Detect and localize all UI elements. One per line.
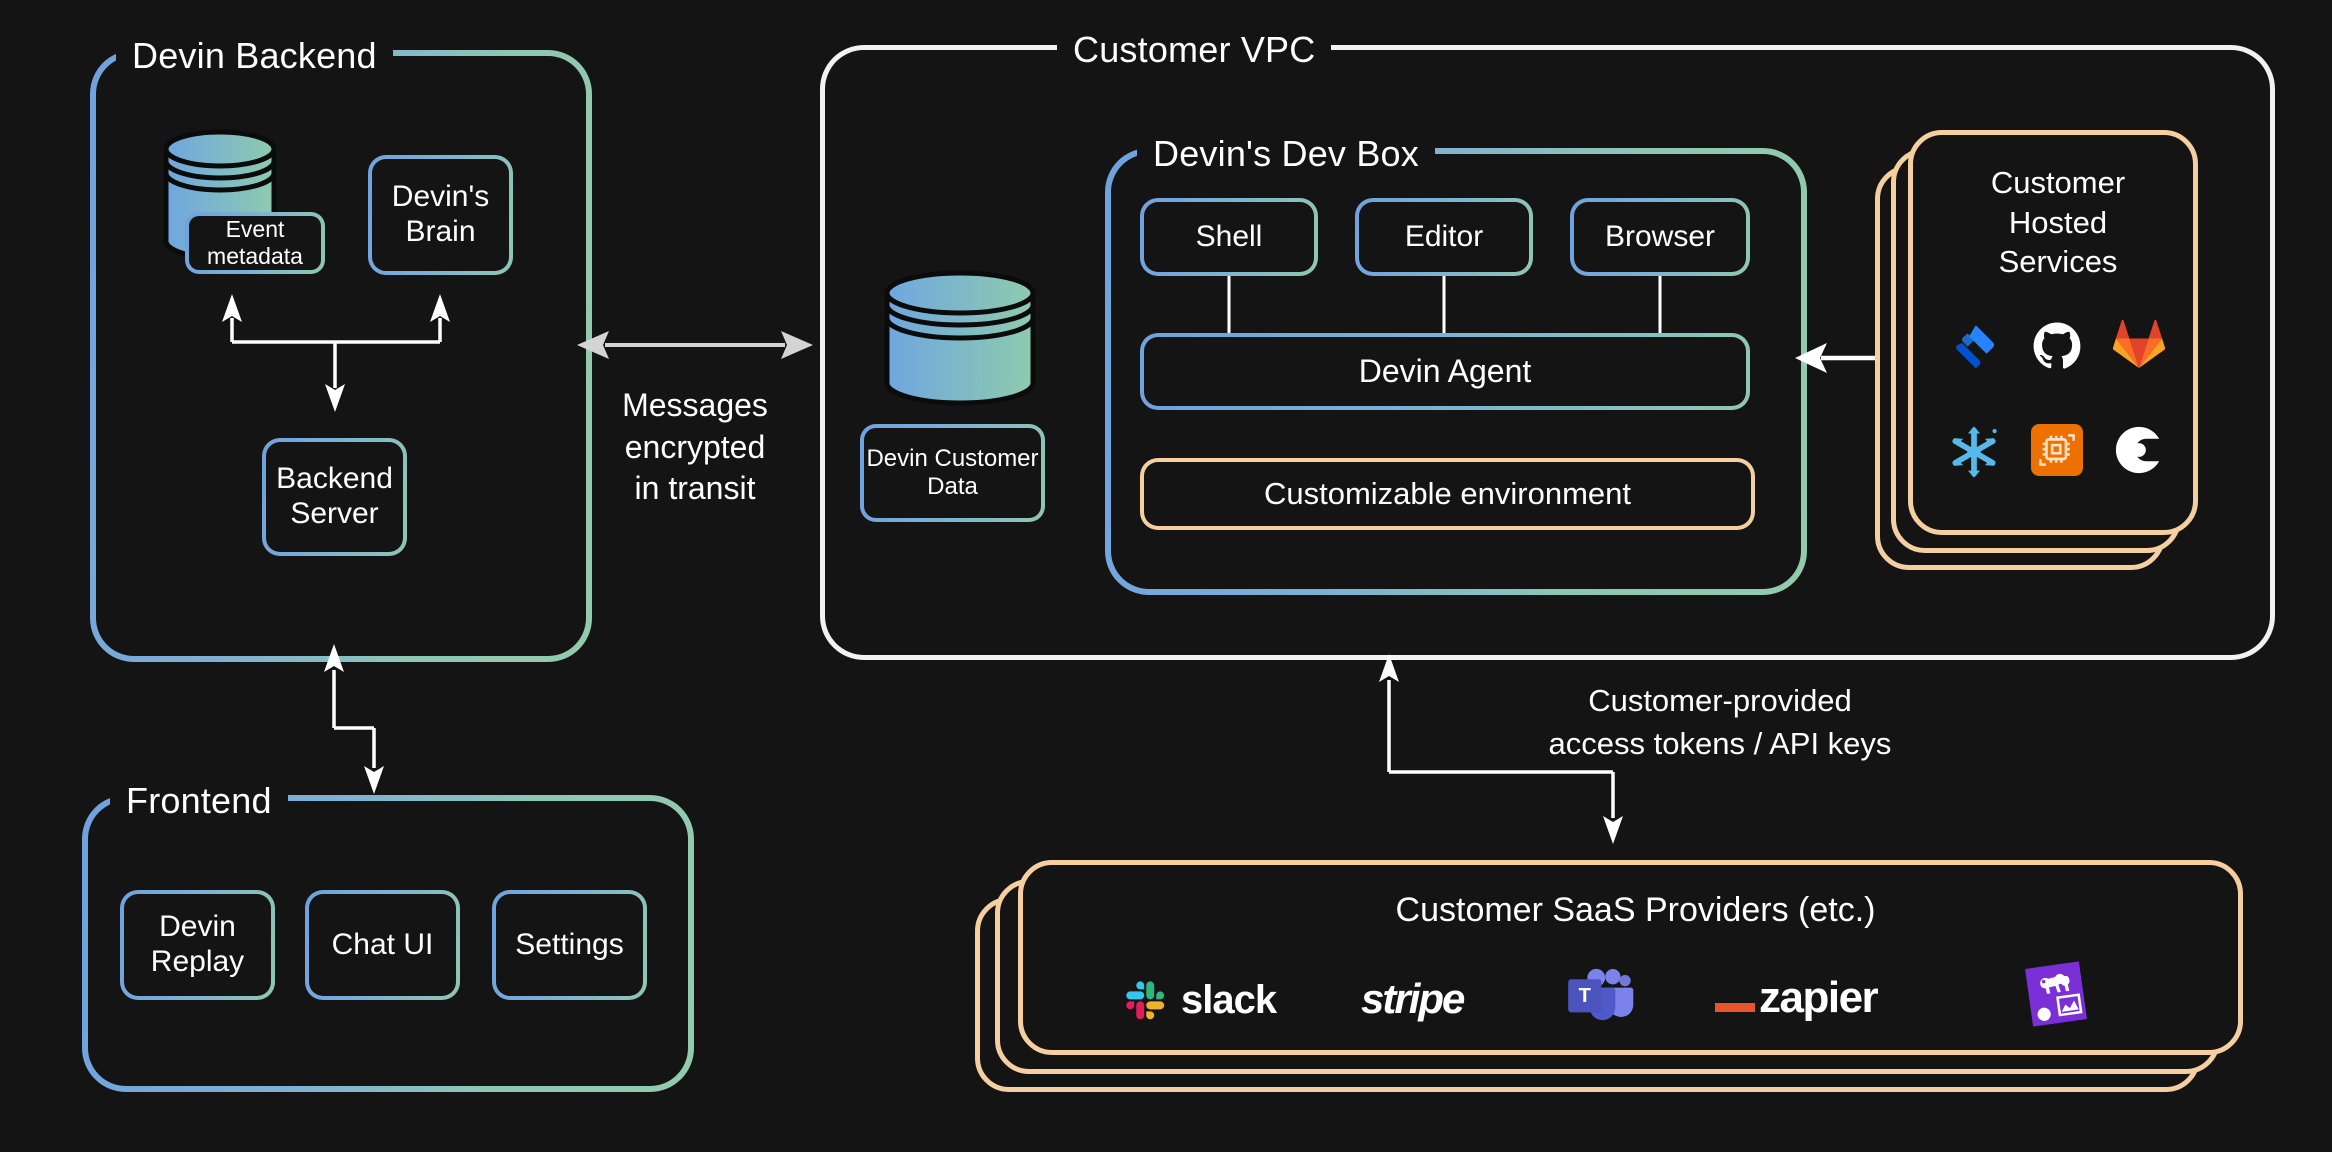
svg-text:stripe: stripe	[1361, 975, 1465, 1022]
devin-customer-data-label: Devin Customer Data	[864, 445, 1041, 501]
customizable-environment-box[interactable]: Customizable environment	[1140, 458, 1755, 530]
dev-tool-label: Shell	[1196, 220, 1263, 255]
backend-server-label: Backend Server	[266, 462, 403, 532]
github-icon[interactable]	[2031, 320, 2083, 372]
diagram-canvas: Devin Backend Event metadata Devin's Bra…	[0, 0, 2332, 1152]
frontend-item-label: Chat UI	[332, 928, 434, 963]
devins-brain-label: Devin's Brain	[372, 180, 509, 250]
backend-server-box[interactable]: Backend Server	[262, 438, 407, 556]
hosted-services-icon-grid	[1943, 320, 2175, 510]
stripe-logo[interactable]: stripe	[1361, 975, 1511, 1023]
jira-icon[interactable]	[1949, 320, 2001, 372]
devin-agent-box[interactable]: Devin Agent	[1140, 333, 1750, 410]
frontend-item-label: Settings	[515, 928, 623, 963]
hosted-services-card-front[interactable]: Customer Hosted Services	[1908, 130, 2198, 535]
access-tokens-note: Customer-provided access tokens / API ke…	[1400, 680, 2040, 766]
zapier-logo[interactable]: zapier	[1715, 971, 1925, 1023]
event-metadata-label: Event metadata	[189, 216, 321, 269]
dev-tool-editor[interactable]: Editor	[1355, 198, 1533, 276]
customer-saas-providers-stack: Customer SaaS Providers (etc.)	[975, 845, 2245, 1105]
devin-customer-data-box[interactable]: Devin Customer Data	[860, 424, 1045, 522]
microsoft-teams-logo[interactable]: T	[1568, 965, 1634, 1027]
svg-text:slack: slack	[1181, 978, 1278, 1022]
datadog-logo[interactable]	[2023, 961, 2089, 1027]
svg-text:T: T	[1579, 985, 1592, 1007]
encrypted-transit-label: Messages encrypted in transit	[575, 385, 815, 510]
saas-title: Customer SaaS Providers (etc.)	[1023, 891, 2248, 930]
circleci-icon[interactable]	[2113, 424, 2165, 476]
dev-tool-label: Editor	[1405, 220, 1483, 255]
customer-hosted-services-stack: Customer Hosted Services	[1875, 115, 2215, 575]
svg-text:zapier: zapier	[1759, 973, 1879, 1022]
encrypted-transit-arrow	[575, 325, 815, 365]
group-customer-vpc-title: Customer VPC	[1057, 24, 1331, 76]
dev-tool-label: Browser	[1605, 220, 1715, 255]
dev-tool-browser[interactable]: Browser	[1570, 198, 1750, 276]
dev-tools-connectors	[1140, 276, 1760, 334]
group-devin-backend-title: Devin Backend	[116, 30, 393, 82]
devin-customer-data-icon	[880, 265, 1040, 415]
frontend-item-label: Devin Replay	[124, 910, 271, 980]
gitlab-icon[interactable]	[2113, 320, 2165, 372]
saas-logo-row: slack stripe	[1083, 963, 2188, 1035]
devins-brain-box[interactable]: Devin's Brain	[368, 155, 513, 275]
frontend-item-devin-replay[interactable]: Devin Replay	[120, 890, 275, 1000]
saas-card-front[interactable]: Customer SaaS Providers (etc.)	[1018, 860, 2243, 1055]
dev-tool-shell[interactable]: Shell	[1140, 198, 1318, 276]
devin-agent-label: Devin Agent	[1359, 353, 1532, 390]
frontend-item-chat-ui[interactable]: Chat UI	[305, 890, 460, 1000]
backend-frontend-arrow	[300, 640, 410, 800]
group-frontend-title: Frontend	[110, 775, 288, 827]
aws-ec2-icon[interactable]	[2031, 424, 2083, 476]
frontend-item-settings[interactable]: Settings	[492, 890, 647, 1000]
group-devin-dev-box-title: Devin's Dev Box	[1137, 128, 1435, 180]
customizable-environment-label: Customizable environment	[1264, 476, 1631, 512]
slack-logo[interactable]: slack	[1125, 973, 1310, 1025]
snowflake-icon[interactable]	[1947, 425, 2001, 479]
hosted-services-title: Customer Hosted Services	[1913, 163, 2203, 282]
event-metadata-box[interactable]: Event metadata	[185, 212, 325, 274]
